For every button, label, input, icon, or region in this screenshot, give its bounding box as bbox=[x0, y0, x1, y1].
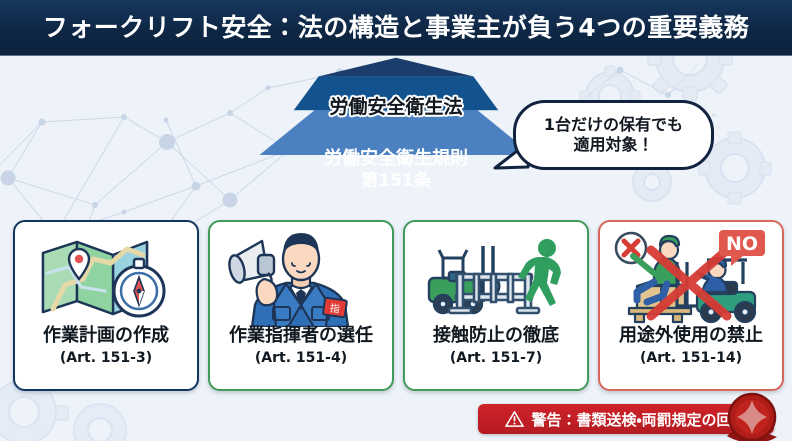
map-compass-icon bbox=[15, 222, 197, 326]
warning-triangle-icon bbox=[505, 410, 524, 428]
supervisor-megaphone-icon: 指 bbox=[210, 222, 392, 326]
card-article: (Art. 151-3) bbox=[60, 350, 152, 366]
forklift-barrier-pedestrian-icon bbox=[405, 222, 587, 326]
card-title: 接触防止の徹底 bbox=[433, 327, 559, 345]
infographic-canvas: フォークリフト安全：法の構造と事業主が負う4つの重要義務 労働安全衛生法 労働安… bbox=[0, 0, 792, 441]
card-article: (Art. 151-7) bbox=[450, 350, 542, 366]
card-article: (Art. 151-14) bbox=[640, 350, 742, 366]
duty-cards: 作業計画の作成 (Art. 151-3) bbox=[0, 0, 792, 441]
svg-text:NO: NO bbox=[726, 233, 758, 255]
callout-bubble: 1台だけの保有でも 適用対象！ bbox=[513, 100, 714, 170]
callout-line1: 1台だけの保有でも bbox=[544, 115, 683, 135]
card-article: (Art. 151-4) bbox=[255, 350, 347, 366]
wax-seal-icon bbox=[723, 392, 779, 441]
warning-text: 警告：書類送検・両罰規定の回避 bbox=[531, 409, 746, 430]
duty-card-no-improper-use[interactable]: NO 用途外使用の禁止 (Art. 151-14) bbox=[598, 220, 784, 391]
duty-card-work-plan[interactable]: 作業計画の作成 (Art. 151-3) bbox=[13, 220, 199, 391]
duty-card-contact-prevention[interactable]: 接触防止の徹底 (Art. 151-7) bbox=[403, 220, 589, 391]
forklift-no-riding-icon: NO bbox=[600, 222, 782, 326]
card-title: 作業計画の作成 bbox=[43, 327, 169, 345]
card-title: 用途外使用の禁止 bbox=[619, 327, 763, 345]
callout-line2: 適用対象！ bbox=[573, 135, 653, 155]
card-title: 作業指揮者の選任 bbox=[229, 327, 373, 345]
duty-card-supervisor[interactable]: 指 作業指揮者の選任 (Art. 151-4) bbox=[208, 220, 394, 391]
